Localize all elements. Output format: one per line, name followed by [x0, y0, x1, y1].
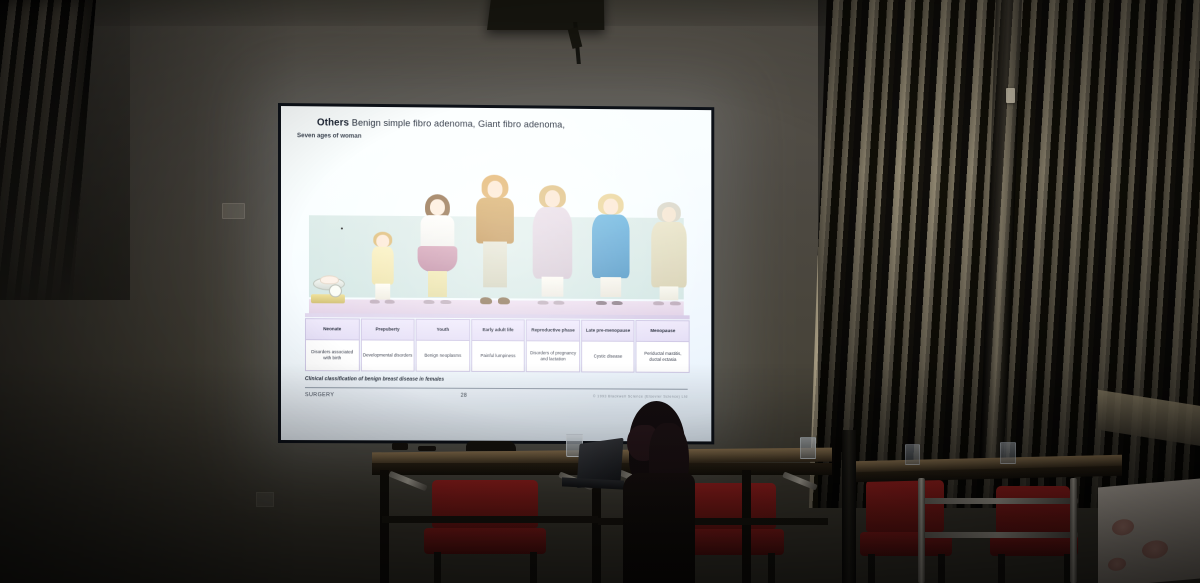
illustration-mark-left — [341, 227, 343, 229]
slide-title-rest: Benign simple fibro adenoma, Giant fibro… — [352, 118, 565, 130]
girl-child-figure-icon — [367, 232, 399, 302]
ceiling-projector-icon — [487, 0, 604, 30]
slide-title-bold: Others — [317, 117, 349, 128]
table-header-cell: Prepuberty — [360, 318, 414, 339]
table-header-cell: Late pre-menopause — [581, 320, 635, 341]
table-header-cell: Youth — [416, 319, 470, 340]
seven-ages-illustration — [305, 141, 690, 315]
pregnant-woman-figure-icon — [528, 185, 577, 303]
lecture-room-photo: Others Benign simple fibro adenoma, Gian… — [0, 0, 1200, 583]
baby-figure — [320, 275, 339, 284]
table-header-cell: Reproductive phase — [526, 319, 580, 340]
young-woman-figure-icon — [470, 175, 520, 303]
table-header-cell: Menopause — [636, 320, 690, 341]
wall-clip-icon — [1006, 88, 1015, 103]
table-header-cell: Neonate — [305, 318, 359, 339]
teenage-girl-figure-icon — [415, 194, 461, 302]
baby-on-weighing-scales-icon — [311, 275, 345, 303]
middle-aged-woman-figure-icon — [587, 193, 634, 303]
table-header-cell: Early adult life — [471, 319, 525, 340]
elderly-woman-figure-icon — [646, 202, 691, 304]
wall-socket-icon — [222, 203, 245, 219]
floor-shadow — [0, 363, 1200, 583]
slide-title: Others Benign simple fibro adenoma, Gian… — [317, 117, 698, 131]
scales-dial — [329, 284, 342, 297]
